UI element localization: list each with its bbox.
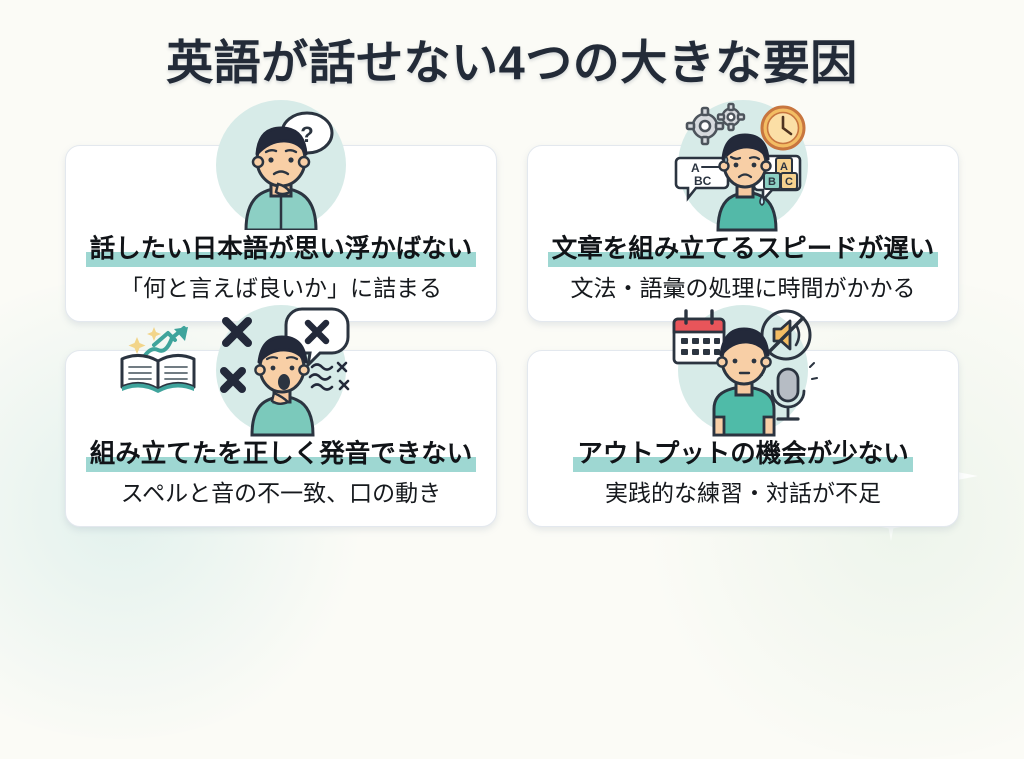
card-subtitle: 文法・語彙の処理に時間がかかる [571, 275, 916, 301]
illustration-person-no-output [678, 305, 808, 435]
card-grid: ? 話し [65, 145, 959, 527]
card-heading: アウトプットの機会が少ない [573, 440, 913, 470]
person-neutral-icon [714, 329, 774, 435]
factor-card-2[interactable]: A BC A B C [527, 145, 959, 322]
svg-text:A: A [780, 161, 788, 173]
page-title: 英語が話せない4つの大きな要因 [0, 24, 1024, 93]
gear-icon [687, 108, 723, 144]
x-mark-icon [224, 321, 248, 389]
svg-text:BC: BC [694, 174, 712, 188]
svg-text:A: A [691, 161, 700, 175]
clock-icon [762, 107, 804, 149]
open-book-growth-arrow-icon [114, 315, 206, 400]
factor-card-4[interactable]: アウトプットの機会が少ない 実践的な練習・対話が不足 [527, 350, 959, 527]
sweat-drop-icon [760, 196, 764, 205]
card-heading: 組み立てたを正しく発音できない [86, 440, 477, 470]
illustration-person-slow-processing: A BC A B C [678, 100, 808, 230]
card-heading: 話したい日本語が思い浮かばない [86, 235, 477, 265]
sound-wave-icon [310, 363, 348, 390]
svg-text:C: C [785, 176, 793, 188]
sweat-drop-icon [725, 156, 728, 163]
illustration-person-mispronouncing [216, 305, 346, 435]
person-speaking-icon [252, 337, 313, 435]
svg-text:B: B [768, 176, 776, 188]
speaker-muted-icon [762, 311, 810, 359]
card-heading: 文章を組み立てるスピードが遅い [548, 235, 939, 265]
factor-card-3[interactable]: 組み立てたを正しく発音できない スペルと音の不一致、口の動き [65, 350, 497, 527]
card-subtitle: スペルと音の不一致、口の動き [121, 480, 441, 506]
factor-card-1[interactable]: ? 話し [65, 145, 497, 322]
illustration-person-thinking: ? [216, 100, 346, 230]
card-subtitle: 実践的な練習・対話が不足 [605, 480, 881, 506]
card-subtitle: 「何と言えば良いか」に詰まる [120, 275, 442, 301]
calendar-icon [674, 311, 724, 363]
